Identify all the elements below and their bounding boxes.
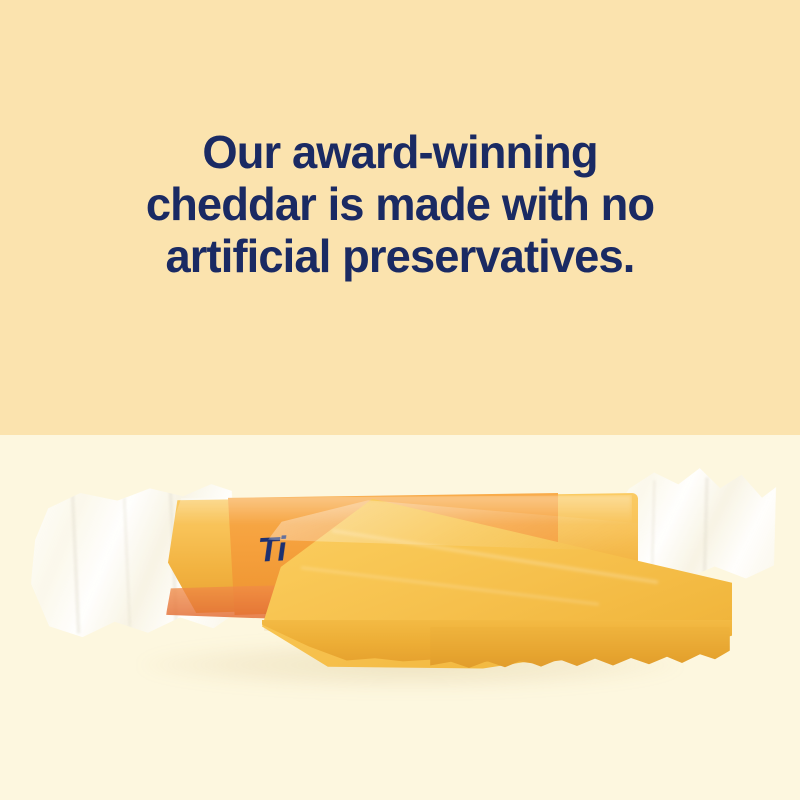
product-photo: Ti xyxy=(0,435,800,800)
headline-line-2: cheddar is made with no xyxy=(6,178,794,230)
headline: Our award-winning cheddar is made with n… xyxy=(0,126,800,282)
wrapper-crease xyxy=(123,497,131,627)
headline-line-3: artificial preservatives. xyxy=(6,230,794,282)
headline-line-1: Our award-winning xyxy=(6,126,794,178)
wrapper-crease xyxy=(71,493,80,633)
cheese-product-promo-card: Our award-winning cheddar is made with n… xyxy=(0,0,800,800)
